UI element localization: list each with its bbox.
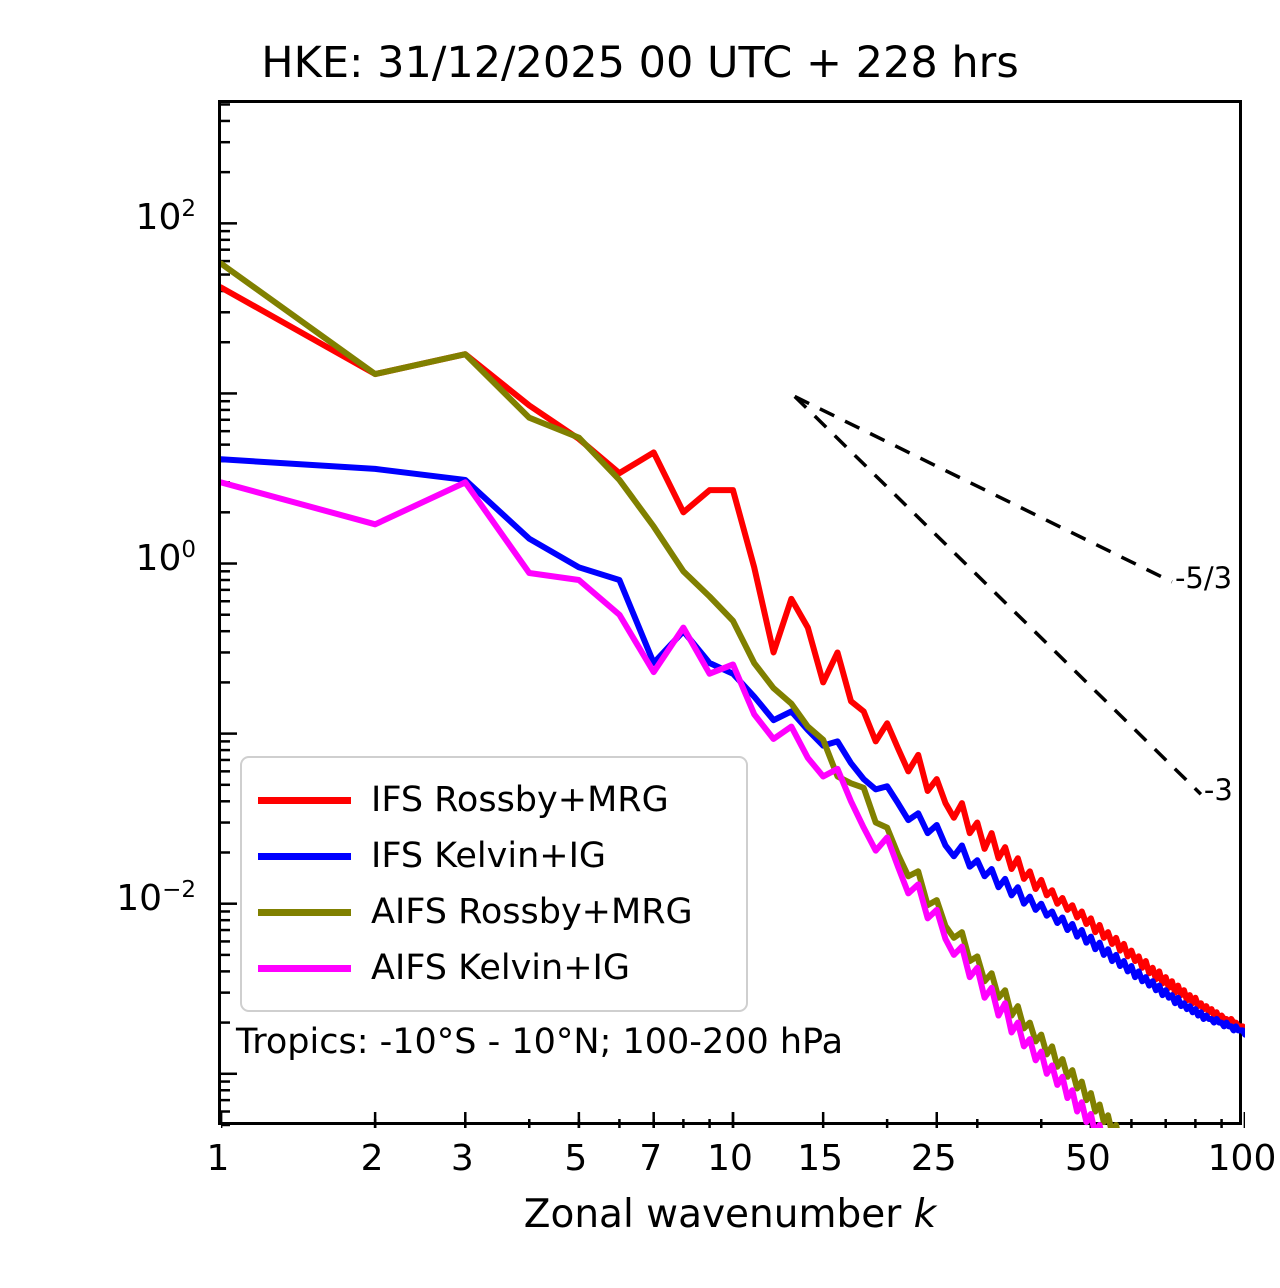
legend: IFS Rossby+MRG IFS Kelvin+IG AIFS Rossby… [240, 756, 748, 1012]
legend-color-swatch [258, 853, 351, 860]
x-axis-label: Zonal wavenumber k [218, 1192, 1242, 1237]
x-tick-label: 50 [1028, 1138, 1148, 1179]
legend-item-label: IFS Kelvin+IG [371, 839, 606, 874]
x-tick-label: 3 [402, 1138, 522, 1179]
figure: HKE: 31/12/2025 00 UTC + 228 hrs Horizon… [0, 0, 1280, 1288]
x-axis-label-text: Zonal wavenumber [524, 1192, 914, 1237]
y-tick-label: 100 [0, 537, 196, 579]
x-tick-label: 15 [760, 1138, 880, 1179]
slope-reference-line [795, 396, 1201, 794]
legend-item-label: AIFS Rossby+MRG [371, 895, 693, 930]
legend-item[interactable]: IFS Rossby+MRG [258, 772, 730, 828]
slope-label: -5/3 [1175, 561, 1232, 595]
legend-item-label: IFS Rossby+MRG [371, 783, 669, 818]
legend-item[interactable]: AIFS Rossby+MRG [258, 884, 730, 940]
page-title: HKE: 31/12/2025 00 UTC + 228 hrs [0, 38, 1280, 88]
x-axis-symbol: k [914, 1192, 937, 1237]
y-tick-label: 10−2 [0, 877, 196, 919]
legend-item[interactable]: AIFS Kelvin+IG [258, 940, 730, 996]
legend-color-swatch [258, 909, 351, 916]
region-annotation: Tropics: -10°S - 10°N; 100-200 hPa [236, 1022, 843, 1062]
legend-item-label: AIFS Kelvin+IG [371, 951, 630, 986]
legend-color-swatch [258, 797, 351, 804]
slope-reference-line [795, 396, 1172, 581]
legend-item[interactable]: IFS Kelvin+IG [258, 828, 730, 884]
x-tick-label: 1 [158, 1138, 278, 1179]
legend-color-swatch [258, 965, 351, 972]
slope-label: -3 [1204, 773, 1233, 807]
x-tick-label: 25 [874, 1138, 994, 1179]
y-tick-label: 102 [0, 196, 196, 238]
x-tick-label: 100 [1182, 1138, 1280, 1179]
